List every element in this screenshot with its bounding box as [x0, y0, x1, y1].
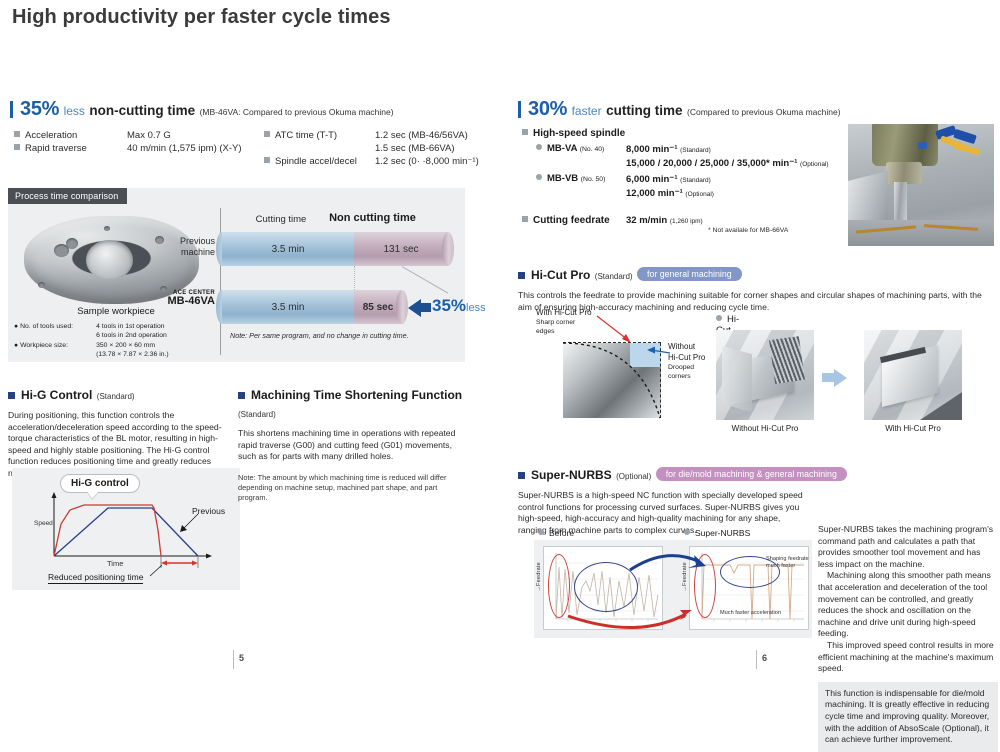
bar-segment-noncutting: 85 sec	[354, 290, 402, 324]
bullet-dot-icon	[684, 529, 690, 535]
hi-cut-pro-heading: Hi-Cut Pro (Standard) for general machin…	[518, 266, 998, 284]
super-nurbs-badge: for die/mold machining & general machini…	[656, 467, 847, 481]
left-headline-note: (MB-46VA: Compared to previous Okuma mac…	[200, 107, 394, 117]
super-nurbs-charts-panel: Before →Feedrate Super	[534, 540, 812, 638]
hi-cut-pro-note: (Standard)	[595, 272, 633, 281]
chart-after-accel-ellipse	[694, 554, 716, 618]
side-para-1: Super-NURBS takes the machining program'…	[818, 524, 998, 570]
fact-line: (13.78 × 7.87 × 2.36 in.)	[96, 350, 169, 359]
super-nurbs-title: Super-NURBS	[531, 468, 612, 482]
photo-caption-without: Without Hi-Cut Pro	[716, 424, 814, 433]
workpiece-facts: ● No. of tools used: 4 tools in 1st oper…	[14, 322, 169, 359]
chart-col-head-cutting: Cutting time	[236, 214, 326, 225]
spindle-speed-note: (Standard)	[680, 147, 711, 154]
spindle-model-mb-vb: MB-VB (No. 50) 6,000 min⁻¹ (Standard) 12…	[522, 173, 852, 201]
spec-label: Rapid traverse	[25, 142, 127, 155]
spec-row: 1.5 sec (MB-66VA)	[264, 142, 504, 155]
machining-time-block: Machining Time Shortening Function (Stan…	[238, 386, 463, 503]
left-specs-column-2: ATC time (T-T)1.2 sec (MB-46/56VA) 1.5 s…	[264, 129, 504, 168]
hi-g-chart-bottom-label: Reduced positioning time	[48, 572, 143, 584]
cutting-feedrate-note: (1,260 ipm)	[670, 218, 703, 225]
spec-value: 1.5 sec (MB-66VA)	[375, 142, 455, 155]
chart-anno-feedrate: Shaping feedrate much faster	[766, 556, 809, 570]
photo-caption-with: With Hi-Cut Pro	[864, 424, 962, 433]
chart-before-label: Before	[538, 528, 574, 538]
hi-g-control-title: Hi-G Control	[21, 388, 92, 402]
spec-row: ATC time (T-T)1.2 sec (MB-46/56VA)	[264, 129, 504, 142]
bar-mb46va: 3.5 min 85 sec	[222, 290, 402, 324]
super-nurbs-heading: Super-NURBS (Optional) for die/mold mach…	[518, 466, 998, 484]
spindle-model-mb-va: MB-VA (No. 40) 8,000 min⁻¹ (Standard) 15…	[522, 143, 852, 171]
left-headline: 35% less non-cutting time (MB-46VA: Comp…	[10, 98, 394, 121]
bullet-dot-icon	[536, 174, 542, 180]
bullet-square-icon	[522, 216, 528, 222]
cutting-feedrate-value: 32 m/min	[626, 215, 667, 226]
spindle-speed-value: 12,000 min⁻¹	[626, 188, 683, 199]
bar-segment-noncutting: 131 sec	[354, 232, 448, 266]
spec-value: 40 m/min (1,575 ipm) (X-Y)	[127, 142, 242, 155]
process-time-comparison-panel: Process time comparison Sample workpiece…	[8, 188, 465, 362]
transition-arrow-tail	[822, 373, 835, 382]
spindle-machine-photo	[848, 124, 994, 246]
right-headline-subject: cutting time	[606, 103, 683, 118]
spindle-speed-note: (Optional)	[685, 191, 714, 198]
bullet-square-icon	[264, 157, 270, 163]
bar-segment-cutting: 3.5 min	[222, 232, 354, 266]
bullet-dot-icon	[538, 529, 544, 535]
machining-time-body: This shortens machining time in operatio…	[238, 428, 463, 463]
page-title: High productivity per faster cycle times	[12, 6, 391, 29]
fact-label: No. of tools used:	[20, 322, 96, 340]
cutting-feedrate-row: Cutting feedrate 32 m/min (1,260 ipm)	[522, 215, 852, 226]
chart-col-head-noncutting: Non cutting time	[320, 212, 425, 224]
chart-after-label: Super-NURBS	[684, 528, 750, 538]
right-page-number: 6	[762, 653, 767, 663]
chart-after-y-label: →Feedrate	[682, 562, 688, 592]
section-square-icon	[518, 472, 525, 479]
hi-cut-pro-without-sub: Drooped corners	[668, 364, 694, 381]
section-square-icon	[8, 392, 15, 399]
super-nurbs-highlight-box: This function is indispensable for die/m…	[818, 682, 998, 752]
hi-g-chart-callout: Hi-G control	[60, 474, 140, 493]
fact-line: 350 × 200 × 60 mm	[96, 341, 169, 350]
page-number-rule	[233, 650, 234, 669]
spec-row: Spindle accel/decel1.2 sec (0· ·8,000 mi…	[264, 155, 504, 168]
spec-label: ATC time (T-T)	[275, 129, 375, 142]
machining-time-heading: Machining Time Shortening Function (Stan…	[238, 386, 463, 422]
spindle-speed-value: 8,000 min⁻¹	[626, 144, 677, 155]
panel-tab-label: Process time comparison	[8, 188, 127, 204]
spindle-model-taper: (No. 40)	[580, 146, 605, 153]
bullet-square-icon	[264, 131, 270, 137]
machining-time-note: (Standard)	[238, 410, 276, 419]
hi-g-chart-x-axis-label: Time	[107, 559, 123, 568]
bullet-dot-icon	[716, 315, 722, 321]
right-headline-qualifier: faster	[572, 104, 602, 118]
hi-cut-pro-title: Hi-Cut Pro	[531, 268, 590, 282]
hi-cut-pro-block: Hi-Cut Pro (Standard) for general machin…	[518, 266, 998, 313]
spec-row: AccelerationMax 0.7 G	[14, 129, 264, 142]
callout-35-less: 35%less	[432, 296, 486, 316]
chart-before-y-label: →Feedrate	[536, 562, 542, 592]
spindle-speed-value: 6,000 min⁻¹	[626, 174, 677, 185]
left-headline-percent: 35%	[20, 98, 59, 120]
chart-before-accel-ellipse	[548, 554, 570, 618]
spec-value: Max 0.7 G	[127, 129, 171, 142]
spindle-spec-block: High-speed spindle MB-VA (No. 40) 8,000 …	[522, 128, 852, 226]
spindle-model-name: MB-VA	[547, 143, 577, 154]
side-para-2: Machining along this smoother path means…	[818, 570, 998, 640]
spindle-model-taper: (No. 50)	[581, 176, 606, 183]
fact-bullet-icon: ●	[14, 322, 18, 340]
machining-time-title: Machining Time Shortening Function	[251, 388, 462, 402]
hi-cut-pro-without-label: Without Hi-Cut Pro	[668, 342, 705, 363]
hi-g-control-note: (Standard)	[97, 392, 135, 401]
bullet-square-icon	[14, 144, 20, 150]
spec-label: Spindle accel/decel	[275, 155, 375, 168]
machining-time-note-small: Note: The amount by which machining time…	[238, 473, 463, 503]
spec-label: Acceleration	[25, 129, 127, 142]
left-headline-subject: non-cutting time	[89, 103, 195, 118]
spec-value: 1.2 sec (0· ·8,000 min⁻¹)	[375, 155, 479, 168]
left-headline-qualifier: less	[64, 104, 85, 118]
fact-label: Workpiece size:	[20, 341, 96, 359]
side-box-text: This function is indispensable for die/m…	[825, 688, 991, 746]
side-para-3: This improved speed control results in m…	[818, 640, 998, 675]
photo-with-hi-cut-pro	[864, 330, 962, 420]
page-number-rule	[756, 650, 757, 669]
hi-g-control-heading: Hi-G Control (Standard)	[8, 386, 230, 404]
transition-arrow-icon	[834, 369, 847, 387]
photo-without-hi-cut-pro	[716, 330, 814, 420]
hi-g-chart-previous-label: Previous	[192, 506, 225, 516]
left-page-number: 5	[239, 653, 244, 663]
accent-bar	[518, 101, 521, 118]
bar-previous-machine: 3.5 min 131 sec	[222, 232, 448, 266]
hi-cut-pro-badge: for general machining	[637, 267, 742, 281]
workpiece-caption: Sample workpiece	[46, 306, 186, 317]
spindle-group-label: High-speed spindle	[522, 128, 852, 139]
section-square-icon	[238, 392, 245, 399]
section-square-icon	[518, 272, 525, 279]
chart-row-label-mb46va: ACE CENTER MB-46VA	[148, 290, 215, 307]
bar-segment-cutting: 3.5 min	[222, 290, 354, 324]
bullet-square-icon	[14, 131, 20, 137]
hi-g-control-block: Hi-G Control (Standard) During positioni…	[8, 386, 230, 480]
hi-g-chart-y-axis-label: Speed	[34, 520, 53, 527]
hi-cut-pro-with-sub: Sharp corner edges	[536, 319, 575, 336]
super-nurbs-note: (Optional)	[616, 472, 651, 481]
spec-row: Rapid traverse40 m/min (1,575 ipm) (X-Y)	[14, 142, 264, 155]
chart-note: Note: Per same program, and no change in…	[230, 331, 409, 340]
fact-line: 4 tools in 1st operation	[96, 322, 167, 331]
right-headline: 30% faster cutting time (Compared to pre…	[518, 98, 841, 121]
cutting-feedrate-label: Cutting feedrate	[533, 215, 610, 226]
spindle-footnote: * Not availale for MB-66VA	[708, 227, 788, 234]
bullet-square-icon	[522, 129, 528, 135]
fact-bullet-icon: ●	[14, 341, 18, 359]
hi-cut-pro-with-label: With Hi-Cut Pro	[536, 308, 592, 318]
spindle-speed-value: 15,000 / 20,000 / 25,000 / 35,000* min⁻¹	[626, 158, 797, 169]
bullet-dot-icon	[536, 144, 542, 150]
chart-row-label-previous: Previous machine	[158, 236, 215, 258]
spindle-model-name: MB-VB	[547, 173, 578, 184]
spindle-speed-note: (Standard)	[680, 177, 711, 184]
hi-g-chart: Hi-G control Speed Time Previous Reduced…	[12, 468, 240, 590]
brochure-page: High productivity per faster cycle times…	[0, 0, 1000, 676]
left-specs-column-1: AccelerationMax 0.7 G Rapid traverse40 m…	[14, 129, 264, 155]
fact-line: 6 tools in 2nd operation	[96, 331, 167, 340]
callout-arrow-tail	[420, 303, 431, 312]
spindle-speed-note: (Optional)	[800, 161, 829, 168]
right-headline-percent: 30%	[528, 98, 567, 120]
super-nurbs-side-text: Super-NURBS takes the machining program'…	[818, 524, 998, 752]
spec-value: 1.2 sec (MB-46/56VA)	[375, 129, 468, 142]
accent-bar	[10, 101, 13, 118]
right-headline-note: (Compared to previous Okuma machine)	[687, 107, 841, 117]
chart-anno-accel: Much faster acceleration	[720, 610, 781, 616]
hi-cut-pro-corner-figure: With Hi-Cut Pro Sharp corner edges Witho…	[518, 310, 708, 445]
chart-before-feedrate-ellipse	[574, 562, 638, 612]
